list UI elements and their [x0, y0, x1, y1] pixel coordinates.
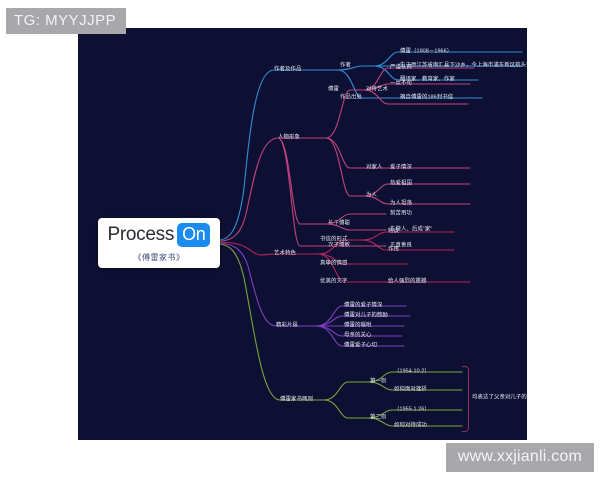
- logo-text: Process: [108, 224, 175, 246]
- node-eldest-son[interactable]: 长子傅聪: [328, 221, 350, 226]
- node-author-life[interactable]: 傅雷（1908－1966）: [400, 49, 452, 54]
- node-as-person[interactable]: 为人: [366, 193, 377, 198]
- node-form-feature[interactable]: 特点: [388, 229, 399, 234]
- node-form-function[interactable]: 作用: [388, 247, 399, 252]
- node-excerpt-2[interactable]: 傅雷对儿子的鼓励: [344, 313, 388, 318]
- root-subtitle: 《傅雷家书》: [134, 252, 185, 263]
- node-person-trait-1[interactable]: 热爱祖国: [390, 181, 412, 186]
- watermark: www.xxjianli.com: [446, 443, 594, 472]
- node-author[interactable]: 作者: [340, 63, 351, 68]
- node-excerpt-5[interactable]: 傅雷爱子心切: [344, 343, 377, 348]
- branch-label-4[interactable]: 精彩片段: [276, 323, 298, 328]
- node-excerpt-4[interactable]: 母亲的关心: [344, 333, 371, 338]
- node-toward-family[interactable]: 对家人: [366, 165, 382, 170]
- summary-bracket: [462, 366, 469, 432]
- root-node[interactable]: Process On 《傅雷家书》: [98, 218, 220, 268]
- node-fulei[interactable]: 傅雷: [328, 87, 339, 92]
- node-second-son[interactable]: 次子傅敏: [328, 243, 350, 248]
- branch-label-1[interactable]: 作者及作品: [274, 67, 301, 72]
- node-toward-art[interactable]: 对待艺术: [366, 87, 388, 92]
- logo-badge: On: [177, 223, 210, 247]
- branch-label-2[interactable]: 人物形象: [278, 135, 300, 140]
- node-letter-two-date[interactable]: （1955.1.26）: [394, 407, 430, 412]
- node-letter-two-theme[interactable]: 如何对待成功: [394, 423, 427, 428]
- branch-label-3[interactable]: 艺术特色: [274, 251, 296, 256]
- processon-logo: Process On: [108, 223, 211, 247]
- node-letter-form[interactable]: 书信的形式: [320, 237, 347, 242]
- branch-label-5[interactable]: 傅雷家书两则: [280, 397, 313, 402]
- node-person-trait-2[interactable]: 为人坦荡: [390, 201, 412, 206]
- node-words-impact[interactable]: 给人强烈的震撼: [388, 279, 426, 284]
- node-letter-two[interactable]: 第二则: [370, 415, 386, 420]
- node-letter-one-date[interactable]: （1954.10.2）: [394, 369, 430, 374]
- node-eldest-trait-1[interactable]: 刻苦用功: [390, 211, 412, 216]
- mindmap-canvas[interactable]: Process On 《傅雷家书》 作者及作品 作者 作品出处 傅雷（1908－…: [78, 28, 527, 440]
- node-source-letters[interactable]: 摘自傅雷的186封书信: [400, 95, 453, 100]
- node-letter-one[interactable]: 第一则: [370, 379, 386, 384]
- node-excerpt-1[interactable]: 傅雷的爱子情深: [344, 303, 382, 308]
- tg-badge: TG: MYYJJPP: [6, 8, 126, 34]
- node-art-trait-1[interactable]: 严谨认真: [390, 65, 412, 70]
- node-excerpt-3[interactable]: 傅雷的嘱咐: [344, 323, 371, 328]
- node-source[interactable]: 作品出处: [340, 95, 362, 100]
- node-letter-one-theme[interactable]: 如何面对挫折: [394, 387, 427, 392]
- summary-annotation: 均表达了父亲对儿子的舐犊之情: [472, 395, 527, 400]
- node-family-trait-1[interactable]: 爱子情深: [390, 165, 412, 170]
- node-sincere-emotion[interactable]: 真挚的情感: [320, 261, 347, 266]
- node-beautiful-words[interactable]: 优美的文字: [320, 279, 347, 284]
- node-art-trait-2[interactable]: 一丝不苟: [390, 81, 412, 86]
- node-author-birthplace[interactable]: 生于原江苏省南汇县下沙乡，今上海市浦东新区航头镇: [400, 63, 527, 68]
